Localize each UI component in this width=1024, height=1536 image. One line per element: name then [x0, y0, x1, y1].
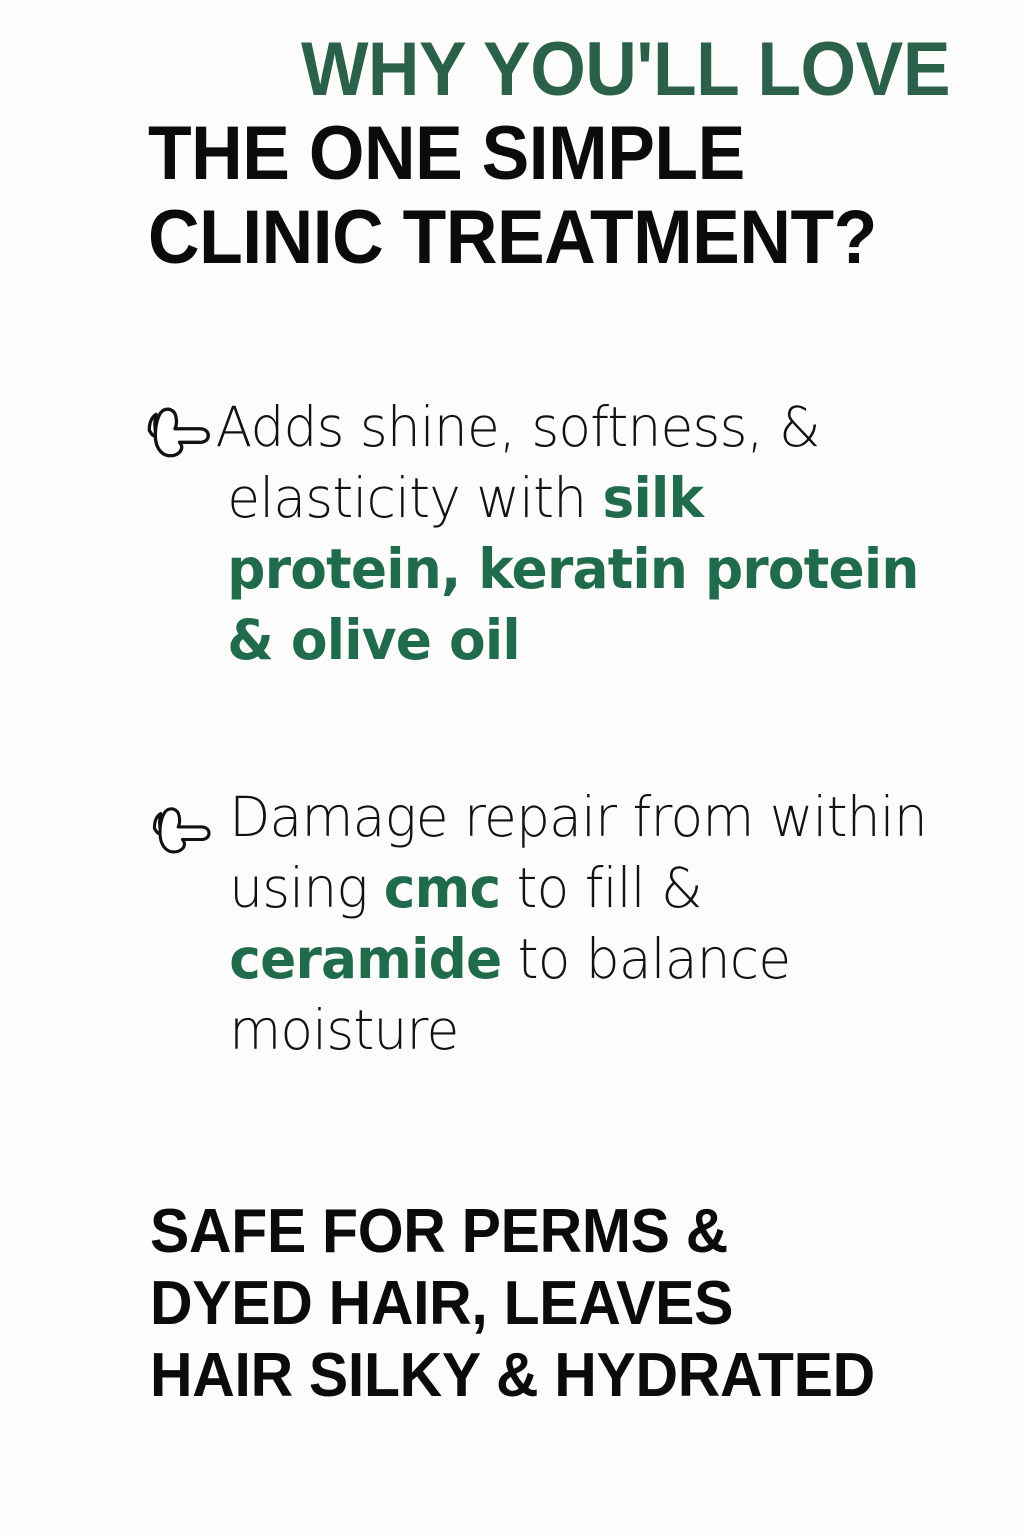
headline-line-2: THE ONE SIMPLE — [148, 112, 900, 196]
headline-line-3: CLINIC TREATMENT? — [148, 196, 900, 280]
list-item-text: Adds shine, softness, & elasticity with … — [140, 392, 945, 676]
footer-claim: SAFE FOR PERMS & DYED HAIR, LEAVES HAIR … — [150, 1196, 960, 1412]
bullet-2-plain-2: to fill & — [500, 856, 702, 920]
list-item: Damage repair from within using cmc to f… — [140, 782, 970, 1066]
page-title: WHY YOU'LL LOVE THE ONE SIMPLE CLINIC TR… — [148, 28, 948, 280]
bullet-2-highlight-1: cmc — [384, 856, 501, 920]
headline-line-1: WHY YOU'LL LOVE — [196, 28, 950, 112]
benefit-list: Adds shine, softness, & elasticity with … — [140, 392, 970, 1066]
footer-line-1: SAFE FOR PERMS & — [150, 1196, 920, 1268]
footer-line-2: DYED HAIR, LEAVES — [150, 1268, 920, 1340]
promo-graphic: WHY YOU'LL LOVE THE ONE SIMPLE CLINIC TR… — [0, 0, 1024, 1536]
bullet-2-highlight-2: ceramide — [229, 927, 501, 991]
list-item: Adds shine, softness, & elasticity with … — [140, 392, 970, 676]
list-item-text: Damage repair from within using cmc to f… — [140, 782, 945, 1066]
bullet-1-plain: Adds shine, softness, & elasticity with — [216, 395, 820, 530]
footer-line-3: HAIR SILKY & HYDRATED — [150, 1340, 920, 1412]
